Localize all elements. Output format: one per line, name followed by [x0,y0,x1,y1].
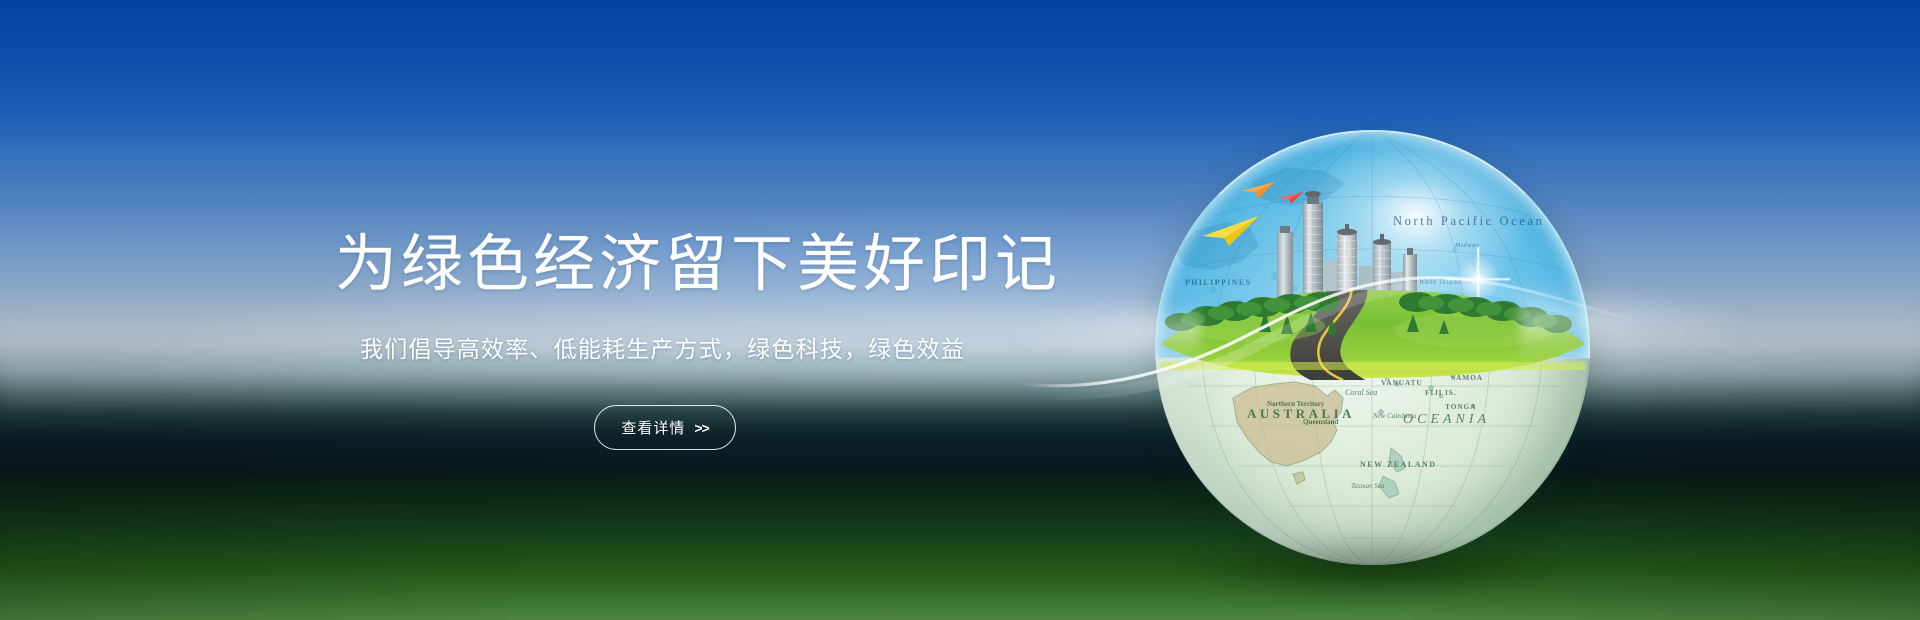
globe-ground-shadow [1190,540,1560,596]
paper-plane-orange-icon [1241,182,1275,199]
paper-plane-yellow-icon [1203,216,1259,246]
globe-glow-left [1010,300,1200,360]
chevron-right-double-icon: >> [694,420,708,436]
hero-banner: OCEANIA AUSTRALIA NEW ZEALAND PAPUA NEW … [0,0,1920,620]
view-details-button[interactable]: 查看详情 >> [594,405,736,450]
paper-plane-red-icon [1279,192,1303,204]
page-title: 为绿色经济留下美好印记 [335,228,1061,301]
dome-label-midway: Midway [1455,242,1480,249]
page-subtitle: 我们倡导高效率、低能耗生产方式，绿色科技，绿色效益 [360,332,965,367]
view-details-label: 查看详情 [621,417,685,438]
globe-glow-right [1520,282,1740,362]
